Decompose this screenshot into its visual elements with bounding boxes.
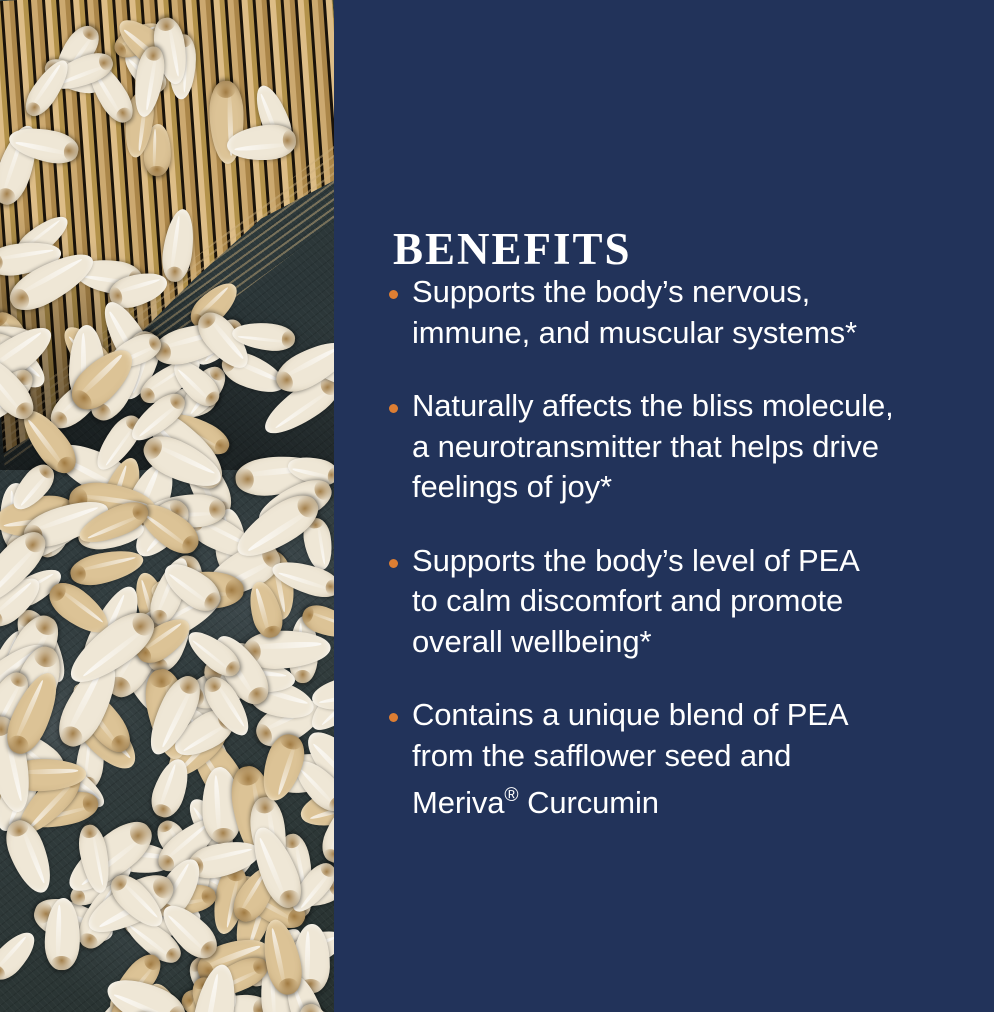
list-item-line: Supports the body’s level of PEA xyxy=(412,541,966,582)
list-item: Supports the body’s nervous,immune, and … xyxy=(386,272,966,353)
list-item-line: feelings of joy* xyxy=(412,467,966,508)
list-item-line: immune, and muscular systems* xyxy=(412,313,966,354)
bullet-dot-icon xyxy=(389,290,398,299)
list-item: Supports the body’s level of PEAto calm … xyxy=(386,541,966,663)
benefits-panel: Benefits Supports the body’s nervous,imm… xyxy=(334,0,994,1012)
bullet-dot-icon xyxy=(389,404,398,413)
registered-trademark-icon: ® xyxy=(504,785,518,806)
benefits-slide: Benefits Supports the body’s nervous,imm… xyxy=(0,0,994,1012)
list-item-line: overall wellbeing* xyxy=(412,622,966,663)
list-item-line: Supports the body’s nervous, xyxy=(412,272,966,313)
list-item: Contains a unique blend of PEAfrom the s… xyxy=(386,695,966,823)
page-title: Benefits xyxy=(393,211,632,275)
bullet-dot-icon xyxy=(389,559,398,568)
list-item-line: to calm discomfort and promote xyxy=(412,581,966,622)
safflower-seed-photo xyxy=(0,0,334,1012)
list-item-line: from the safflower seed and xyxy=(412,736,966,777)
list-item-line: Contains a unique blend of PEA xyxy=(412,695,966,736)
benefits-list: Supports the body’s nervous,immune, and … xyxy=(386,272,966,823)
list-item: Naturally affects the bliss molecule,a n… xyxy=(386,386,966,508)
list-item-line: Meriva® Curcumin xyxy=(412,776,966,823)
list-item-line: Naturally affects the bliss molecule, xyxy=(412,386,966,427)
list-item-line: a neurotransmitter that helps drive xyxy=(412,427,966,468)
bullet-dot-icon xyxy=(389,713,398,722)
